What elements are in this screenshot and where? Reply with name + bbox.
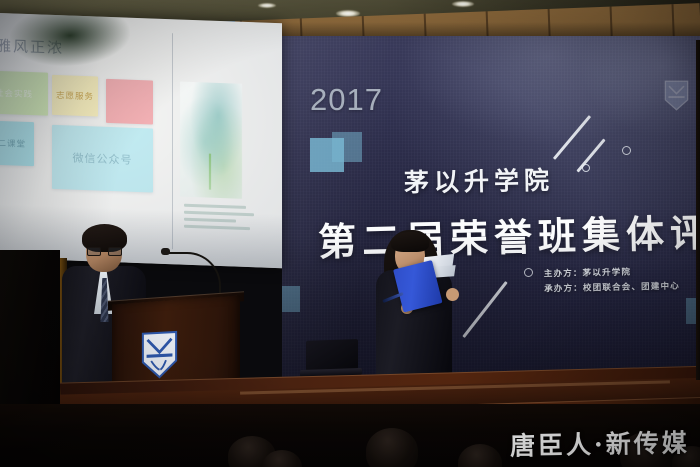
audience-head: [366, 428, 418, 467]
laptop: [300, 339, 362, 377]
glasses-icon: [87, 247, 122, 256]
laptop-screen: [306, 339, 358, 371]
event-backdrop-banner: 2017 茅以升学院 第二届荣誉班集体评选 主办方：茅以升学院 承办方：校团联合…: [282, 36, 700, 378]
presenter-fringe: [391, 232, 429, 252]
right-wall-edge: [696, 40, 700, 380]
ceiling-light-icon: [258, 3, 276, 8]
microphone-capsule-icon: [161, 248, 170, 255]
ceiling-light-icon: [452, 1, 474, 7]
banner-bottom-shading: [282, 36, 700, 378]
university-shield-emblem: [141, 330, 178, 380]
photo-scene: 2017 茅以升学院 第二届荣誉班集体评选 主办方：茅以升学院 承办方：校团联合…: [0, 0, 700, 467]
watermark: 唐臣人·新传媒: [510, 423, 690, 462]
screen-top-shadow: [7, 13, 133, 70]
